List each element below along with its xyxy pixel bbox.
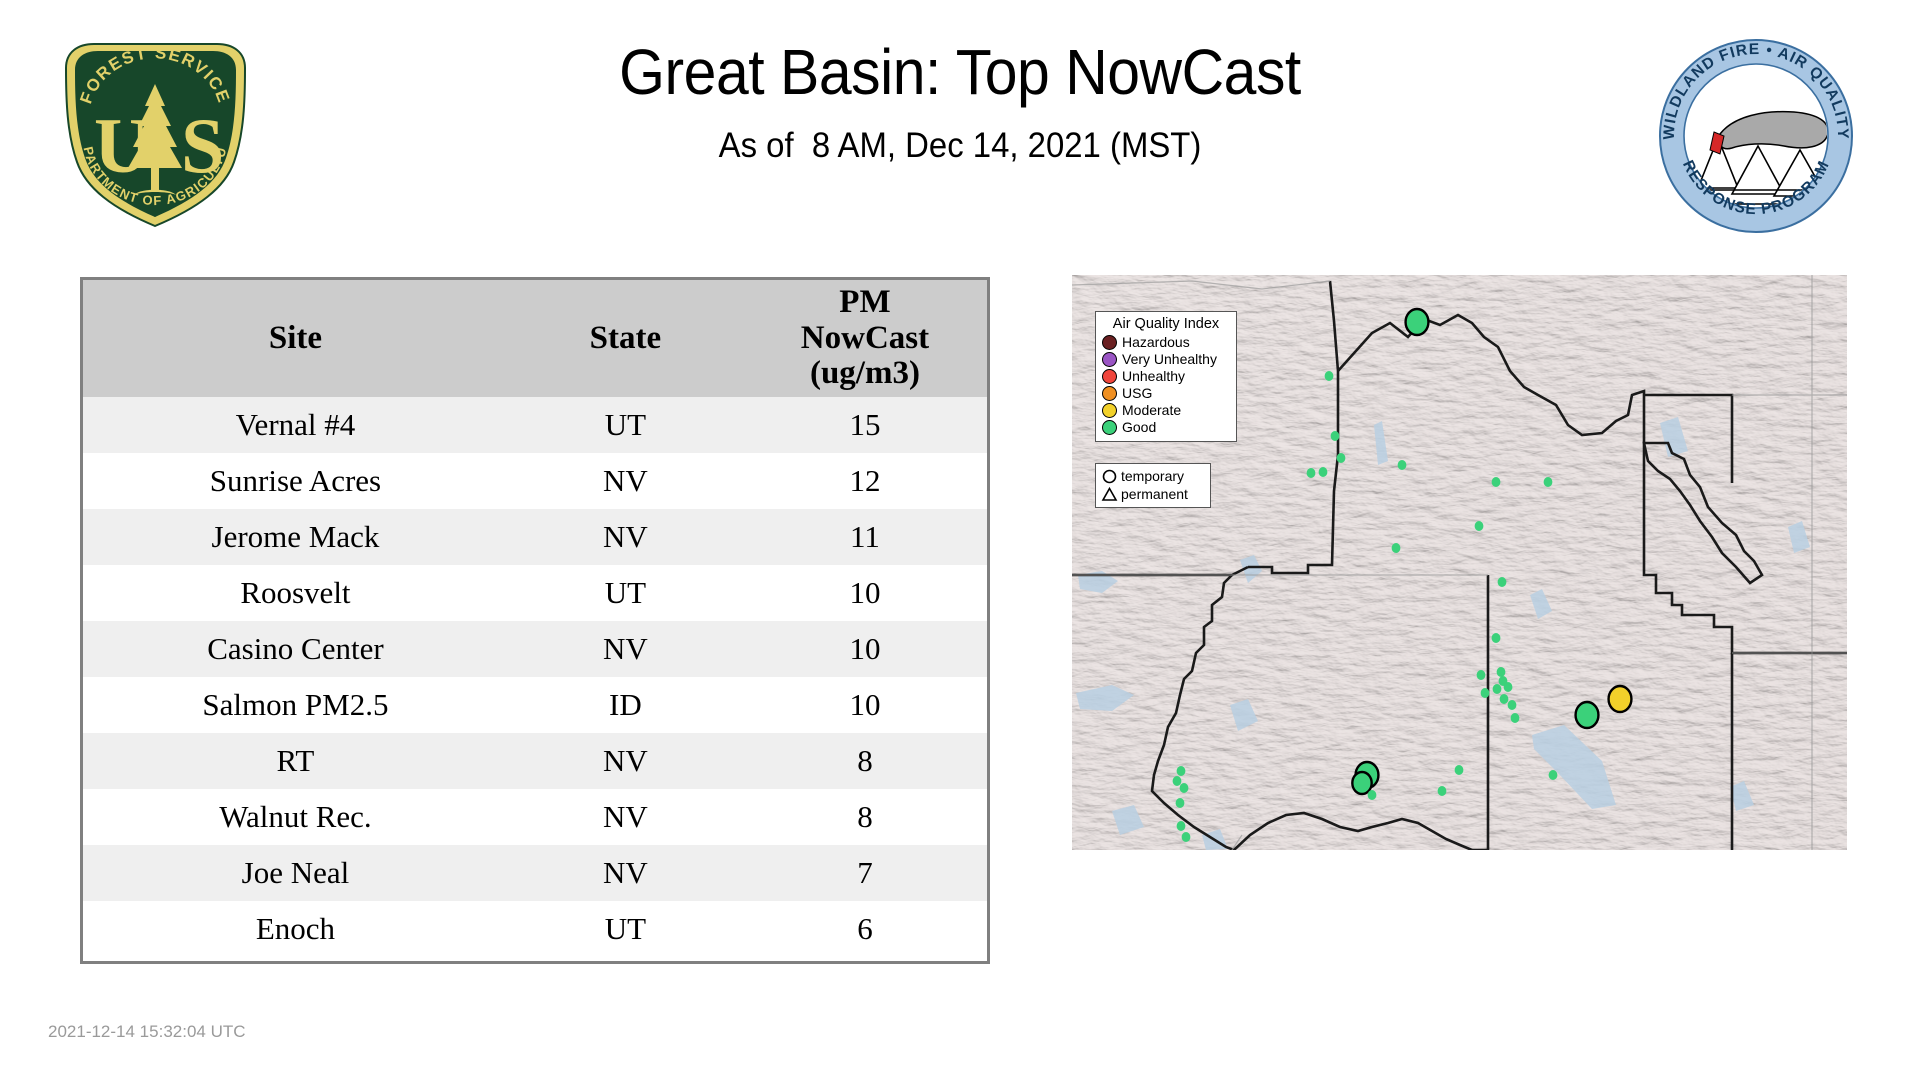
map-marker[interactable] [1352,772,1371,794]
table-row: Sunrise AcresNV12 [83,453,987,509]
aqi-legend-row: Very Unhealthy [1102,351,1230,368]
map-marker[interactable] [1492,477,1501,487]
column-header-site: Site [83,280,508,397]
map-marker[interactable] [1180,783,1189,793]
aqi-legend: Air Quality Index HazardousVery Unhealth… [1095,311,1237,442]
map-marker[interactable] [1392,543,1401,553]
page-header: FOREST SERVICE U S DEPARTMENT OF AGRICUL… [0,0,1920,230]
aqi-legend-label: USG [1122,386,1152,401]
cell-state: NV [508,789,743,845]
table-row: Joe NealNV7 [83,845,987,901]
table-row: Salmon PM2.5ID10 [83,677,987,733]
cell-pm-value: 10 [743,621,987,677]
page-subtitle: As of 8 AM, Dec 14, 2021 (MST) [340,126,1581,166]
cell-state: NV [508,733,743,789]
aqi-legend-row: USG [1102,385,1230,402]
cell-state: UT [508,901,743,961]
legend-label-permanent: permanent [1121,487,1188,502]
cell-site: Walnut Rec. [83,789,508,845]
cell-pm-value: 8 [743,789,987,845]
cell-site: RT [83,733,508,789]
column-header-pm-nowcast: PM NowCast (ug/m3) [743,280,987,397]
pm-header-line-1: PM [743,285,987,321]
title-block: Great Basin: Top NowCast As of 8 AM, Dec… [300,40,1620,166]
map-marker[interactable] [1609,686,1632,712]
cell-state: NV [508,621,743,677]
cell-site: Salmon PM2.5 [83,677,508,733]
cell-site: Sunrise Acres [83,453,508,509]
cell-pm-value: 11 [743,509,987,565]
nowcast-table: Site State PM NowCast (ug/m3) Vernal #4U… [83,280,987,961]
pm-header-line-3: (ug/m3) [743,356,987,392]
nowcast-table-panel: Site State PM NowCast (ug/m3) Vernal #4U… [80,277,990,964]
cell-site: Roosvelt [83,565,508,621]
cell-pm-value: 10 [743,677,987,733]
aqi-legend-label: Very Unhealthy [1122,352,1217,367]
aqi-color-swatch [1102,335,1117,350]
cell-pm-value: 8 [743,733,987,789]
cell-site: Jerome Mack [83,509,508,565]
cell-state: NV [508,845,743,901]
aqi-legend-label: Moderate [1122,403,1181,418]
map-marker[interactable] [1508,700,1517,710]
cell-state: NV [508,453,743,509]
cell-pm-value: 12 [743,453,987,509]
cell-site: Enoch [83,901,508,961]
table-row: Jerome MackNV11 [83,509,987,565]
aqi-color-swatch [1102,386,1117,401]
map-marker[interactable] [1182,832,1191,842]
map-marker[interactable] [1438,786,1447,796]
circle-icon [1101,468,1118,485]
map-marker[interactable] [1325,371,1334,381]
pm-header-line-2: NowCast [743,321,987,357]
cell-state: UT [508,565,743,621]
cell-site: Joe Neal [83,845,508,901]
map-marker[interactable] [1319,467,1328,477]
table-row: RTNV8 [83,733,987,789]
legend-row-temporary: temporary [1101,467,1205,485]
map-marker[interactable] [1500,694,1509,704]
map-marker[interactable] [1544,477,1553,487]
map-marker[interactable] [1177,821,1186,831]
map-marker[interactable] [1504,682,1513,692]
map-marker[interactable] [1455,765,1464,775]
aqi-legend-row: Moderate [1102,402,1230,419]
table-body: Vernal #4UT15Sunrise AcresNV12Jerome Mac… [83,397,987,961]
table-row: RoosveltUT10 [83,565,987,621]
wfaqrp-logo: WILDLAND FIRE • AIR QUALITY RESPONSE PRO… [1658,38,1854,234]
table-row: Vernal #4UT15 [83,397,987,453]
map-marker[interactable] [1493,684,1502,694]
table-header: Site State PM NowCast (ug/m3) [83,280,987,397]
map-marker[interactable] [1173,776,1182,786]
aqi-legend-label: Hazardous [1122,335,1190,350]
cell-state: ID [508,677,743,733]
cell-state: UT [508,397,743,453]
map-marker[interactable] [1331,431,1340,441]
column-header-state: State [508,280,743,397]
table-row: EnochUT6 [83,901,987,961]
aqi-legend-label: Unhealthy [1122,369,1185,384]
map-marker[interactable] [1481,688,1490,698]
cell-state: NV [508,509,743,565]
legend-row-permanent: permanent [1101,485,1205,503]
aqi-legend-label: Good [1122,420,1156,435]
map-marker[interactable] [1176,798,1185,808]
cell-pm-value: 6 [743,901,987,961]
map-marker[interactable] [1549,770,1558,780]
aqi-legend-row: Hazardous [1102,334,1230,351]
map-marker[interactable] [1368,790,1377,800]
air-quality-map[interactable]: Air Quality Index HazardousVery Unhealth… [1072,275,1847,850]
aqi-legend-row: Good [1102,419,1230,436]
map-marker[interactable] [1576,702,1599,728]
triangle-icon [1101,486,1118,503]
page-title: Great Basin: Top NowCast [353,40,1567,104]
cell-pm-value: 10 [743,565,987,621]
map-marker[interactable] [1498,577,1507,587]
legend-label-temporary: temporary [1121,469,1184,484]
aqi-color-swatch [1102,420,1117,435]
table-row: Walnut Rec.NV8 [83,789,987,845]
cell-pm-value: 15 [743,397,987,453]
map-marker[interactable] [1492,633,1501,643]
map-marker[interactable] [1337,453,1346,463]
map-marker[interactable] [1477,670,1486,680]
cell-site: Vernal #4 [83,397,508,453]
table-row: Casino CenterNV10 [83,621,987,677]
table-header-row: Site State PM NowCast (ug/m3) [83,280,987,397]
aqi-color-swatch [1102,369,1117,384]
aqi-legend-row: Unhealthy [1102,368,1230,385]
map-marker[interactable] [1497,667,1506,677]
map-marker[interactable] [1307,468,1316,478]
cell-site: Casino Center [83,621,508,677]
site-type-legend: temporary permanent [1095,463,1211,508]
cell-pm-value: 7 [743,845,987,901]
map-marker[interactable] [1406,309,1429,335]
aqi-legend-items: HazardousVery UnhealthyUnhealthyUSGModer… [1102,334,1230,436]
footer-timestamp: 2021-12-14 15:32:04 UTC [48,1022,246,1042]
usfs-shield-logo: FOREST SERVICE U S DEPARTMENT OF AGRICUL… [48,30,263,230]
aqi-legend-title: Air Quality Index [1102,316,1230,332]
aqi-color-swatch [1102,403,1117,418]
map-marker[interactable] [1511,713,1520,723]
map-marker[interactable] [1177,766,1186,776]
map-marker[interactable] [1398,460,1407,470]
aqi-color-swatch [1102,352,1117,367]
map-marker[interactable] [1475,521,1484,531]
